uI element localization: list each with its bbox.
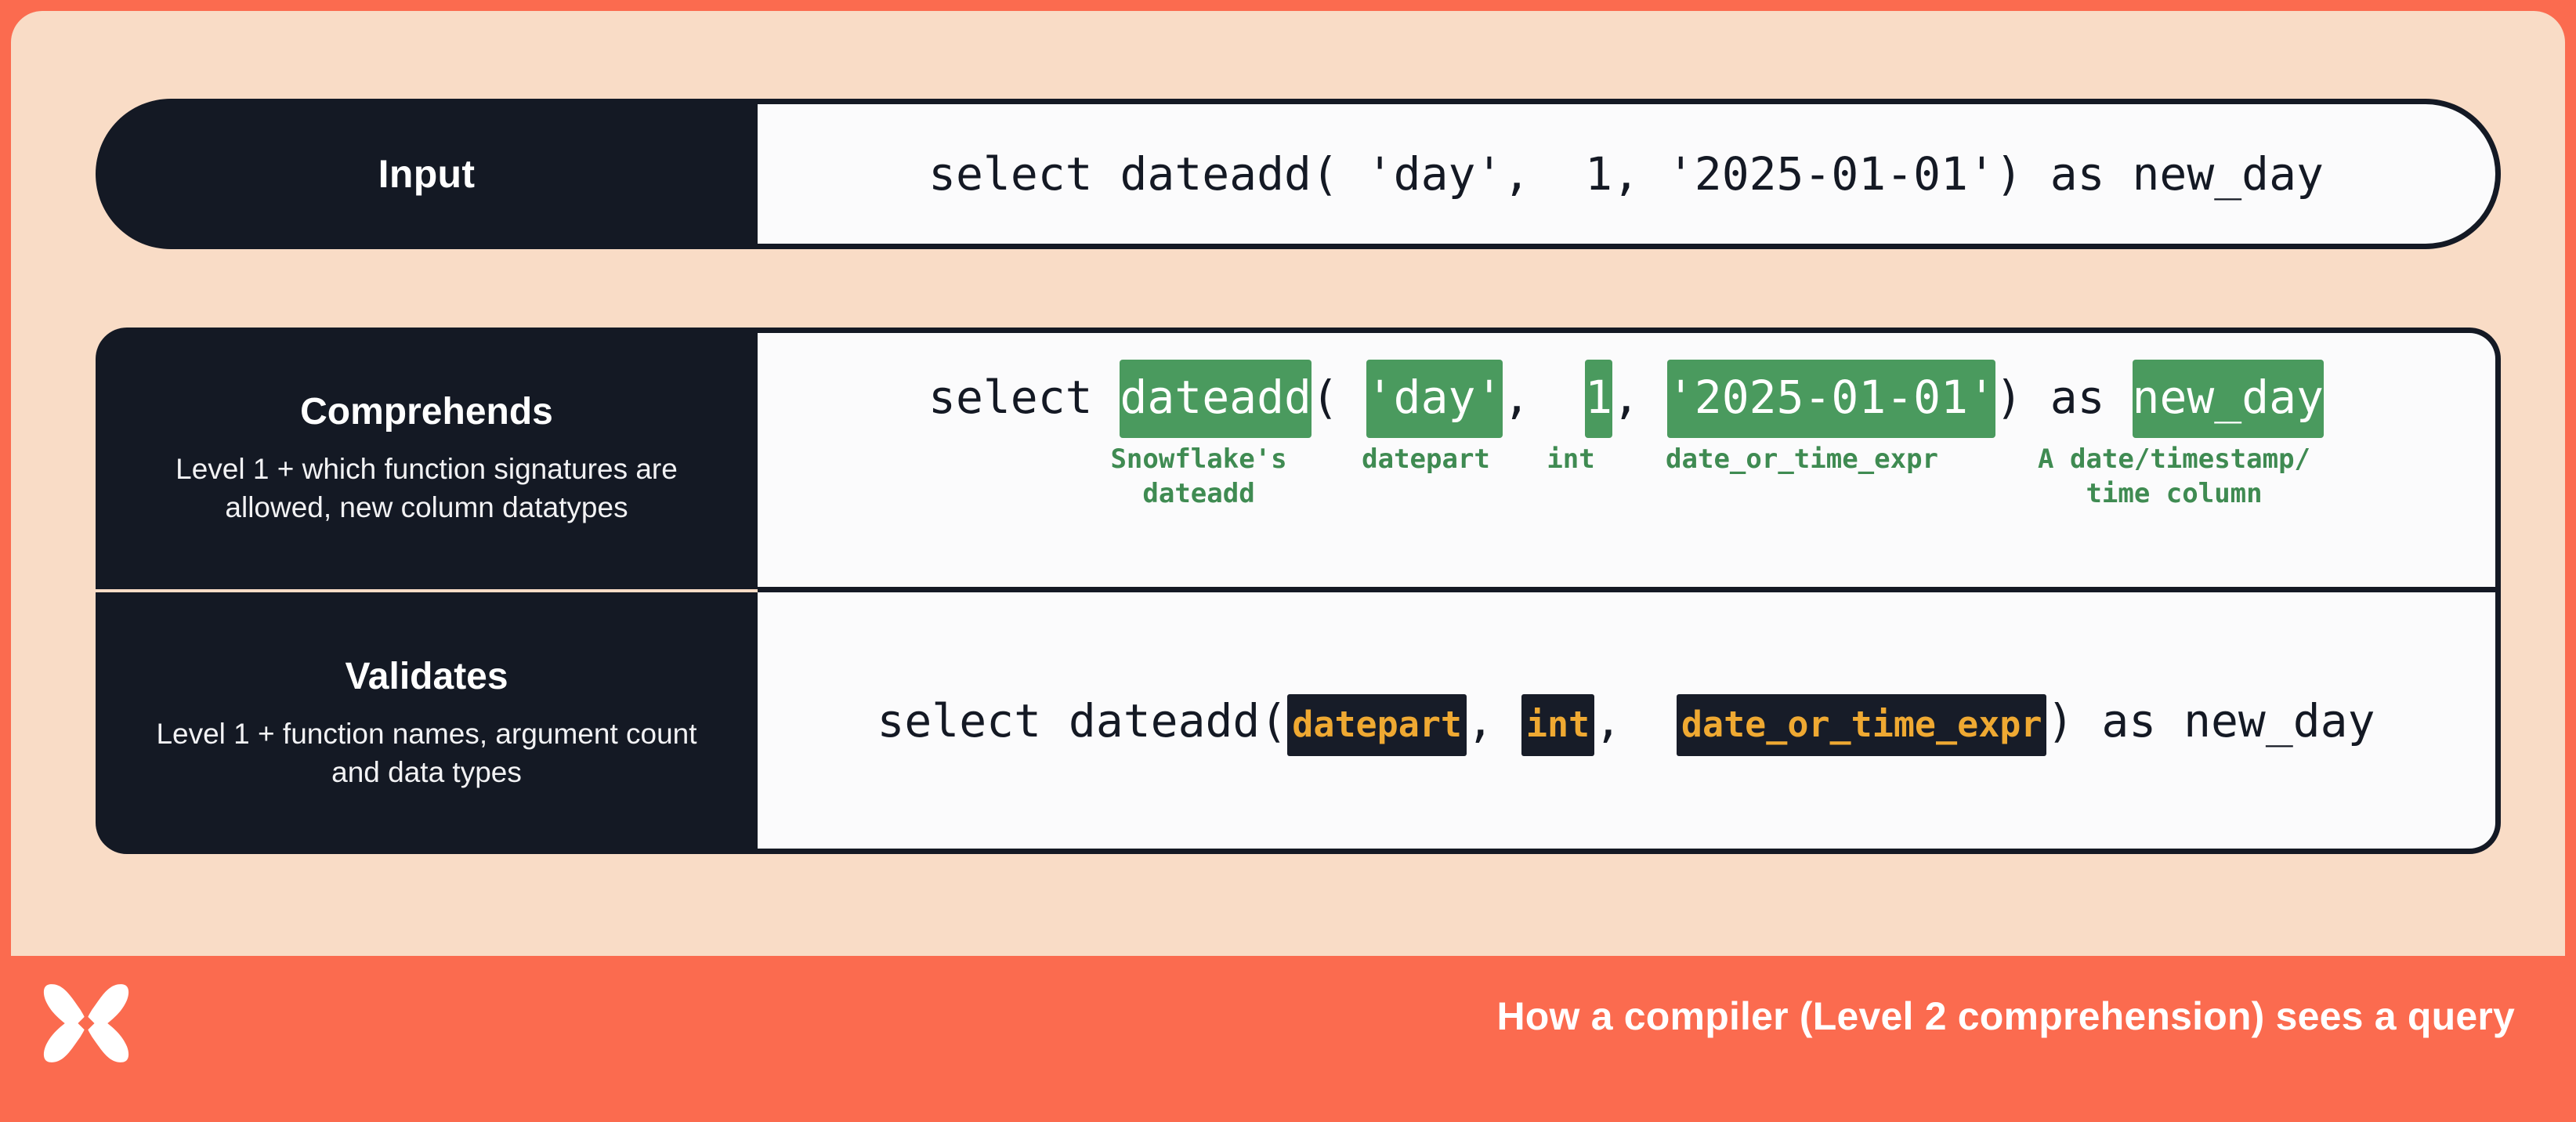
code-token-0: select dateadd(	[877, 694, 1287, 747]
code-token-2: (	[1312, 371, 1366, 424]
code-token-9: new_day	[2133, 360, 2324, 438]
code-token-0: select	[928, 371, 1120, 424]
code-token-1: datepart	[1287, 694, 1467, 756]
validates-title: Validates	[345, 655, 508, 698]
code-token-4: ,	[1594, 694, 1677, 747]
input-row-label: Input	[378, 151, 476, 197]
validates-description: Level 1 + function names, argument count…	[129, 715, 725, 792]
annotation-2: int	[1524, 442, 1618, 476]
comprehends-row: Comprehends Level 1 + which function sig…	[96, 328, 2501, 589]
code-token-2: ,	[1467, 694, 1521, 747]
validates-label-panel: Validates Level 1 + function names, argu…	[96, 592, 758, 854]
code-token-7: '2025-01-01'	[1667, 360, 1995, 438]
annotation-0: Snowflake's dateadd	[1081, 442, 1316, 511]
input-row: Input select dateadd( 'day', 1, '2025-01…	[96, 99, 2501, 249]
comprehends-description: Level 1 + which function signatures are …	[129, 451, 725, 527]
code-token-5: 1	[1585, 360, 1612, 438]
comprehends-annotations: Snowflake's dateadddatepartintdate_or_ti…	[928, 442, 2324, 517]
screenshot-root: Input select dateadd( 'day', 1, '2025-01…	[0, 0, 2576, 1122]
code-token-3: int	[1521, 694, 1594, 756]
content-card: Input select dateadd( 'day', 1, '2025-01…	[11, 11, 2565, 956]
validates-code-panel: select dateadd(datepart, int, date_or_ti…	[757, 592, 2501, 854]
validates-row: Validates Level 1 + function names, argu…	[96, 592, 2501, 854]
code-token-1: dateadd	[1120, 360, 1311, 438]
code-token-5: date_or_time_expr	[1677, 694, 2047, 756]
code-token-4: ,	[1503, 371, 1585, 424]
comprehends-query-code: select dateadd( 'day', 1, '2025-01-01') …	[928, 375, 2324, 420]
footer-bar: How a compiler (Level 2 comprehension) s…	[0, 956, 2576, 1122]
annotation-3: date_or_time_expr	[1618, 442, 1986, 476]
comprehends-code-stack: select dateadd( 'day', 1, '2025-01-01') …	[928, 375, 2324, 548]
butterfly-x-logo-icon	[38, 975, 135, 1072]
footer-caption: How a compiler (Level 2 comprehension) s…	[1496, 994, 2515, 1039]
input-query-code: select dateadd( 'day', 1, '2025-01-01') …	[928, 147, 2324, 201]
code-token-6: ,	[1612, 371, 1667, 424]
input-row-label-panel: Input	[96, 99, 758, 249]
code-token-6: ) as new_day	[2046, 694, 2375, 747]
row-divider	[758, 587, 2501, 592]
input-row-code-panel: select dateadd( 'day', 1, '2025-01-01') …	[757, 99, 2501, 249]
comprehends-code-panel: select dateadd( 'day', 1, '2025-01-01') …	[757, 328, 2501, 589]
annotation-4: A date/timestamp/ time column	[1990, 442, 2358, 511]
code-token-3: 'day'	[1366, 360, 1503, 438]
comprehends-title: Comprehends	[300, 390, 553, 433]
code-token-8: ) as	[1995, 371, 2133, 424]
comprehends-label-panel: Comprehends Level 1 + which function sig…	[96, 328, 758, 589]
validates-query-code: select dateadd(datepart, int, date_or_ti…	[877, 694, 2375, 747]
levels-card: Comprehends Level 1 + which function sig…	[96, 328, 2501, 854]
annotation-1: datepart	[1336, 442, 1516, 476]
